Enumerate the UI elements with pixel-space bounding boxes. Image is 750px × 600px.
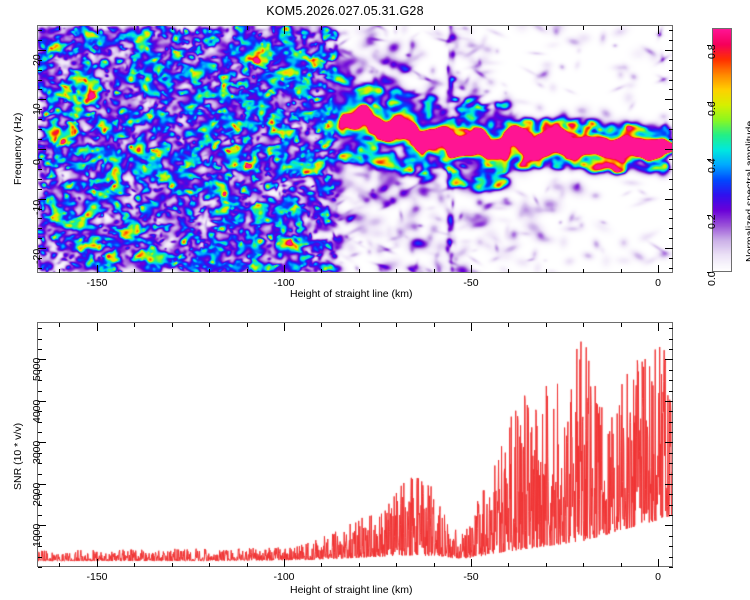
colorbar-tick-label: 0.0 bbox=[706, 271, 718, 286]
x-major-tick-top bbox=[97, 26, 98, 34]
x-minor-tick bbox=[583, 269, 584, 273]
y-minor-tick-right bbox=[669, 391, 673, 392]
x-tick-label: -50 bbox=[441, 571, 501, 583]
y-major-tick-right bbox=[665, 401, 673, 402]
y-minor-tick bbox=[38, 80, 42, 81]
y-minor-tick bbox=[38, 70, 42, 71]
x-minor-tick bbox=[508, 269, 509, 273]
y-minor-tick-right bbox=[669, 411, 673, 412]
x-minor-tick-top bbox=[583, 26, 584, 30]
x-minor-tick-top bbox=[321, 26, 322, 30]
y-minor-tick-right bbox=[669, 60, 673, 61]
y-minor-tick bbox=[38, 474, 42, 475]
y-tick-label: 4000 bbox=[31, 400, 43, 423]
colorbar-tick-label: 0.8 bbox=[706, 44, 718, 59]
x-major-tick bbox=[658, 265, 659, 273]
x-major-tick bbox=[97, 559, 98, 567]
y-minor-tick bbox=[38, 339, 42, 340]
x-minor-tick-top bbox=[583, 323, 584, 327]
x-major-tick bbox=[471, 559, 472, 567]
x-major-tick bbox=[658, 559, 659, 567]
y-minor-tick-right bbox=[669, 119, 673, 120]
y-major-tick-right bbox=[665, 199, 673, 200]
x-minor-tick bbox=[59, 563, 60, 567]
y-minor-tick bbox=[38, 228, 42, 229]
x-minor-tick bbox=[583, 563, 584, 567]
colorbar-tick-label: 0.2 bbox=[706, 215, 718, 230]
y-tick-label: 3000 bbox=[31, 441, 43, 464]
snr-xaxis-label: Height of straight line (km) bbox=[290, 584, 413, 596]
y-minor-tick-right bbox=[669, 238, 673, 239]
y-minor-tick bbox=[38, 557, 42, 558]
y-minor-tick bbox=[38, 179, 42, 180]
y-minor-tick bbox=[38, 218, 42, 219]
y-minor-tick bbox=[38, 169, 42, 170]
y-major-tick bbox=[38, 99, 46, 100]
x-minor-tick-top bbox=[172, 323, 173, 327]
y-minor-tick-right bbox=[669, 179, 673, 180]
y-minor-tick bbox=[38, 567, 42, 568]
x-major-tick bbox=[284, 265, 285, 273]
y-minor-tick-right bbox=[669, 494, 673, 495]
y-minor-tick-right bbox=[669, 258, 673, 259]
y-minor-tick-right bbox=[669, 339, 673, 340]
y-minor-tick-right bbox=[669, 109, 673, 110]
y-minor-tick-right bbox=[669, 129, 673, 130]
y-minor-tick bbox=[38, 328, 42, 329]
x-minor-tick-top bbox=[247, 26, 248, 30]
x-minor-tick-top bbox=[247, 323, 248, 327]
y-minor-tick-right bbox=[669, 380, 673, 381]
y-major-tick-right bbox=[665, 248, 673, 249]
y-minor-tick-right bbox=[669, 432, 673, 433]
x-major-tick-top bbox=[658, 26, 659, 34]
y-minor-tick-right bbox=[669, 474, 673, 475]
y-tick-label: 5000 bbox=[31, 358, 43, 381]
y-minor-tick bbox=[38, 515, 42, 516]
y-minor-tick-right bbox=[669, 546, 673, 547]
x-minor-tick-top bbox=[434, 26, 435, 30]
y-minor-tick-right bbox=[669, 453, 673, 454]
y-tick-label: 1000 bbox=[31, 524, 43, 547]
y-tick-label: 20 bbox=[31, 54, 43, 66]
x-minor-tick bbox=[59, 269, 60, 273]
x-minor-tick bbox=[172, 269, 173, 273]
y-minor-tick bbox=[38, 129, 42, 130]
x-minor-tick-top bbox=[59, 323, 60, 327]
x-minor-tick-top bbox=[396, 26, 397, 30]
y-minor-tick-right bbox=[669, 139, 673, 140]
x-minor-tick bbox=[209, 269, 210, 273]
snr-panel bbox=[37, 322, 673, 567]
x-tick-label: -150 bbox=[67, 571, 127, 583]
y-tick-label: 2000 bbox=[31, 483, 43, 506]
x-tick-label: 0 bbox=[628, 571, 688, 583]
y-minor-tick bbox=[38, 432, 42, 433]
x-minor-tick-top bbox=[396, 323, 397, 327]
figure-title: KOM5.2026.027.05.31.G28 bbox=[0, 4, 690, 18]
x-tick-label: -50 bbox=[441, 277, 501, 289]
y-major-tick-right bbox=[665, 359, 673, 360]
x-minor-tick-top bbox=[172, 26, 173, 30]
x-tick-label: -150 bbox=[67, 277, 127, 289]
x-minor-tick-top bbox=[359, 323, 360, 327]
x-major-tick-top bbox=[284, 323, 285, 331]
y-major-tick bbox=[38, 149, 46, 150]
y-minor-tick bbox=[38, 189, 42, 190]
y-minor-tick-right bbox=[669, 218, 673, 219]
y-minor-tick-right bbox=[669, 30, 673, 31]
x-minor-tick bbox=[321, 563, 322, 567]
x-major-tick-top bbox=[658, 323, 659, 331]
y-minor-tick-right bbox=[669, 536, 673, 537]
y-minor-tick bbox=[38, 349, 42, 350]
x-minor-tick bbox=[134, 563, 135, 567]
snr-yaxis-label: SNR (10 * v/v) bbox=[12, 423, 24, 490]
x-minor-tick bbox=[209, 563, 210, 567]
y-tick-label: -10 bbox=[31, 200, 43, 215]
x-minor-tick-top bbox=[621, 26, 622, 30]
x-minor-tick-top bbox=[209, 323, 210, 327]
colorbar-tick-label: 0.6 bbox=[706, 101, 718, 116]
x-minor-tick bbox=[359, 563, 360, 567]
x-minor-tick bbox=[134, 269, 135, 273]
y-minor-tick-right bbox=[669, 515, 673, 516]
y-minor-tick-right bbox=[669, 349, 673, 350]
y-minor-tick-right bbox=[669, 268, 673, 269]
x-minor-tick-top bbox=[621, 323, 622, 327]
x-minor-tick bbox=[621, 563, 622, 567]
y-major-tick-right bbox=[665, 99, 673, 100]
x-minor-tick bbox=[508, 563, 509, 567]
y-major-tick-right bbox=[665, 484, 673, 485]
y-minor-tick-right bbox=[669, 40, 673, 41]
x-minor-tick bbox=[434, 563, 435, 567]
y-minor-tick-right bbox=[669, 463, 673, 464]
y-major-tick-right bbox=[665, 149, 673, 150]
y-minor-tick bbox=[38, 268, 42, 269]
y-minor-tick-right bbox=[669, 169, 673, 170]
y-minor-tick-right bbox=[669, 89, 673, 90]
y-minor-tick-right bbox=[669, 505, 673, 506]
x-minor-tick-top bbox=[546, 323, 547, 327]
x-major-tick bbox=[284, 559, 285, 567]
x-tick-label: 0 bbox=[628, 277, 688, 289]
y-tick-label: -20 bbox=[31, 249, 43, 264]
x-minor-tick bbox=[546, 269, 547, 273]
x-minor-tick-top bbox=[546, 26, 547, 30]
x-minor-tick-top bbox=[359, 26, 360, 30]
x-minor-tick-top bbox=[134, 26, 135, 30]
spectrogram-xaxis-label: Height of straight line (km) bbox=[290, 288, 413, 300]
x-major-tick bbox=[97, 265, 98, 273]
y-minor-tick bbox=[38, 40, 42, 41]
y-minor-tick-right bbox=[669, 228, 673, 229]
x-minor-tick-top bbox=[209, 26, 210, 30]
y-minor-tick-right bbox=[669, 209, 673, 210]
y-major-tick-right bbox=[665, 50, 673, 51]
y-minor-tick bbox=[38, 139, 42, 140]
y-minor-tick-right bbox=[669, 370, 673, 371]
y-tick-label: 0 bbox=[31, 159, 43, 165]
y-minor-tick bbox=[38, 89, 42, 90]
y-minor-tick-right bbox=[669, 159, 673, 160]
x-minor-tick-top bbox=[59, 26, 60, 30]
figure-root: KOM5.2026.027.05.31.G28 -150-100-500-20-… bbox=[0, 0, 750, 600]
x-major-tick bbox=[471, 265, 472, 273]
y-minor-tick bbox=[38, 238, 42, 239]
x-minor-tick bbox=[321, 269, 322, 273]
x-major-tick-top bbox=[284, 26, 285, 34]
spectrogram-image bbox=[38, 26, 672, 272]
x-minor-tick bbox=[621, 269, 622, 273]
y-minor-tick-right bbox=[669, 422, 673, 423]
x-minor-tick bbox=[247, 269, 248, 273]
colorbar bbox=[712, 28, 732, 272]
y-minor-tick bbox=[38, 119, 42, 120]
y-major-tick bbox=[38, 50, 46, 51]
snr-line-plot bbox=[38, 323, 672, 566]
colorbar-tick-label: 0.4 bbox=[706, 158, 718, 173]
y-minor-tick-right bbox=[669, 567, 673, 568]
y-tick-label: 10 bbox=[31, 103, 43, 115]
x-minor-tick bbox=[247, 563, 248, 567]
x-minor-tick-top bbox=[321, 323, 322, 327]
x-minor-tick-top bbox=[508, 26, 509, 30]
y-major-tick-right bbox=[665, 442, 673, 443]
y-minor-tick bbox=[38, 391, 42, 392]
y-minor-tick-right bbox=[669, 70, 673, 71]
colorbar-gradient bbox=[713, 29, 731, 271]
y-minor-tick-right bbox=[669, 328, 673, 329]
x-minor-tick bbox=[172, 563, 173, 567]
x-major-tick-top bbox=[97, 323, 98, 331]
y-minor-tick-right bbox=[669, 189, 673, 190]
spectrogram-yaxis-label: Frequency (Hz) bbox=[12, 113, 24, 185]
x-major-tick-top bbox=[471, 323, 472, 331]
y-minor-tick-right bbox=[669, 80, 673, 81]
x-minor-tick-top bbox=[508, 323, 509, 327]
x-minor-tick-top bbox=[134, 323, 135, 327]
spectrogram-panel bbox=[37, 25, 673, 273]
y-minor-tick bbox=[38, 30, 42, 31]
x-minor-tick-top bbox=[434, 323, 435, 327]
x-minor-tick bbox=[546, 563, 547, 567]
y-minor-tick-right bbox=[669, 557, 673, 558]
x-minor-tick bbox=[434, 269, 435, 273]
colorbar-label: Normalized spectral amplitude bbox=[744, 121, 750, 262]
x-major-tick-top bbox=[471, 26, 472, 34]
x-minor-tick bbox=[396, 269, 397, 273]
x-tick-label: -100 bbox=[254, 571, 314, 583]
x-minor-tick bbox=[359, 269, 360, 273]
y-major-tick-right bbox=[665, 525, 673, 526]
x-minor-tick bbox=[396, 563, 397, 567]
